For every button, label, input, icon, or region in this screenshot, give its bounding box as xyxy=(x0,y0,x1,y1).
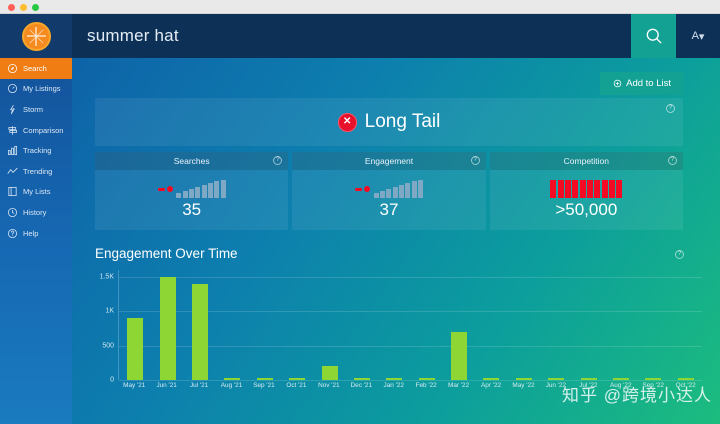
x-axis-tick-label: Sep '22 xyxy=(637,382,669,389)
gridline xyxy=(119,380,702,381)
gauge-marker-dot xyxy=(167,186,173,192)
card-help-icon[interactable]: ? xyxy=(273,156,282,165)
clock-icon xyxy=(7,207,18,218)
font-size-button[interactable]: A ▾ xyxy=(676,14,720,58)
red-x-circle-icon: ✕ xyxy=(338,113,357,132)
add-to-list-label: Add to List xyxy=(626,78,671,89)
sidebar-item-trending[interactable]: Trending xyxy=(0,161,72,182)
search-input[interactable]: summer hat xyxy=(72,14,631,58)
chart-bar[interactable] xyxy=(419,378,435,380)
chart-bar[interactable] xyxy=(224,378,240,380)
card-value: 37 xyxy=(380,200,399,220)
metric-card-competition: Competition ? xyxy=(490,152,683,230)
card-title: Competition xyxy=(564,156,609,166)
x-axis-tick-label: Sep '21 xyxy=(248,382,280,389)
card-body: 35 xyxy=(95,170,288,230)
card-header: Engagement ? xyxy=(292,152,485,170)
chart-bar[interactable] xyxy=(386,378,402,380)
chart-bar[interactable] xyxy=(354,378,370,380)
sidebar-item-history[interactable]: History xyxy=(0,202,72,223)
sidebar-item-label: My Lists xyxy=(23,187,51,196)
sidebar-item-storm[interactable]: Storm xyxy=(0,99,72,120)
chart-bar[interactable] xyxy=(645,378,661,380)
gauge-icon xyxy=(7,83,18,94)
chart-bar[interactable] xyxy=(192,284,208,380)
chart-bar[interactable] xyxy=(127,318,143,380)
top-bar: summer hat A ▾ xyxy=(0,14,720,58)
main-content: Add to List ✕ Long Tail ? Searches ? xyxy=(72,58,720,424)
metric-card-engagement: Engagement ? xyxy=(292,152,485,230)
long-tail-banner: ✕ Long Tail ? xyxy=(95,98,683,146)
chart-bar-slot[interactable] xyxy=(151,270,183,380)
chart-bar[interactable] xyxy=(483,378,499,380)
card-help-icon[interactable]: ? xyxy=(668,156,677,165)
x-axis-tick-label: Jun '21 xyxy=(150,382,182,389)
zoom-window-button[interactable] xyxy=(32,4,39,11)
chart-bars xyxy=(119,270,702,380)
chart-bar[interactable] xyxy=(548,378,564,380)
x-axis-tick-label: Apr '22 xyxy=(475,382,507,389)
y-axis-tick-label: 1.5K xyxy=(100,273,114,280)
chart-bar-slot[interactable] xyxy=(119,270,151,380)
close-window-button[interactable] xyxy=(8,4,15,11)
gauge-marker-dash xyxy=(355,188,362,191)
chart-bar[interactable] xyxy=(678,378,694,380)
x-axis-tick-label: Jan '22 xyxy=(378,382,410,389)
x-axis-tick-label: Feb '22 xyxy=(410,382,442,389)
x-axis-tick-label: May '22 xyxy=(507,382,539,389)
x-axis-tick-label: May '21 xyxy=(118,382,150,389)
card-header: Searches ? xyxy=(95,152,288,170)
card-header: Competition ? xyxy=(490,152,683,170)
notebook-icon xyxy=(7,186,18,197)
y-axis-tick-label: 0 xyxy=(110,377,114,384)
chart-bar-slot[interactable] xyxy=(508,270,540,380)
sidebar-navigation: Search My Listings Storm xyxy=(0,58,72,424)
x-axis-tick-label: Oct '21 xyxy=(280,382,312,389)
metric-cards: Searches ? xyxy=(95,152,683,230)
chart-bar-slot[interactable] xyxy=(475,270,507,380)
chevron-down-icon: ▾ xyxy=(699,30,705,43)
sidebar-item-label: My Listings xyxy=(23,84,61,93)
plus-circle-icon xyxy=(613,79,622,88)
banner-title: Long Tail xyxy=(365,111,441,133)
font-size-label: A xyxy=(692,30,699,42)
x-axis-tick-label: Aug '22 xyxy=(605,382,637,389)
question-icon xyxy=(7,228,18,239)
sidebar-item-search[interactable]: Search xyxy=(0,58,72,79)
chart-bar[interactable] xyxy=(451,332,467,380)
sidebar-item-label: Comparison xyxy=(23,126,63,135)
chart-bar-slot[interactable] xyxy=(313,270,345,380)
add-to-list-row: Add to List xyxy=(600,72,684,95)
metric-card-searches: Searches ? xyxy=(95,152,288,230)
chart-bar-slot[interactable] xyxy=(540,270,572,380)
sidebar-item-label: History xyxy=(23,208,46,217)
x-axis-tick-label: Jul '22 xyxy=(572,382,604,389)
y-axis-tick-label: 500 xyxy=(102,342,114,349)
search-submit-button[interactable] xyxy=(631,14,676,58)
add-to-list-button[interactable]: Add to List xyxy=(600,72,684,95)
chart-bar-slot[interactable] xyxy=(411,270,443,380)
chart-y-axis: 05001K1.5K xyxy=(92,270,116,380)
sidebar-item-my-lists[interactable]: My Lists xyxy=(0,182,72,203)
chart-bar-slot[interactable] xyxy=(443,270,475,380)
chart-bar-slot[interactable] xyxy=(184,270,216,380)
chart-bar-slot[interactable] xyxy=(216,270,248,380)
card-body: >50,000 xyxy=(490,170,683,230)
sidebar-item-label: Help xyxy=(23,229,38,238)
logo-spokes xyxy=(27,27,46,46)
x-axis-tick-label: Nov '21 xyxy=(313,382,345,389)
y-axis-tick-label: 1K xyxy=(105,308,114,315)
sidebar-item-label: Storm xyxy=(23,105,43,114)
x-axis-tick-label: Jul '21 xyxy=(183,382,215,389)
trend-line-icon xyxy=(7,166,18,177)
card-title: Engagement xyxy=(365,156,413,166)
card-value: 35 xyxy=(182,200,201,220)
bar-chart-icon xyxy=(7,145,18,156)
chart-x-axis: May '21Jun '21Jul '21Aug '21Sep '21Oct '… xyxy=(118,382,702,389)
chart-plot-area: 05001K1.5K May '21Jun '21Jul '21Aug '21S… xyxy=(92,270,702,398)
chart-bar[interactable] xyxy=(516,378,532,380)
chart-bar[interactable] xyxy=(289,378,305,380)
magnifier-icon xyxy=(644,26,664,46)
sidebar-item-label: Trending xyxy=(23,167,52,176)
chart-grid xyxy=(118,270,702,380)
chart-bar[interactable] xyxy=(257,378,273,380)
chart-help-icon[interactable]: ? xyxy=(675,250,684,259)
x-axis-tick-label: Aug '21 xyxy=(215,382,247,389)
chart-bar-slot[interactable] xyxy=(637,270,669,380)
engagement-chart-panel: Engagement Over Time ? 05001K1.5K May '2… xyxy=(72,238,720,424)
card-body: 37 xyxy=(292,170,485,230)
compass-icon xyxy=(7,63,18,74)
card-value: >50,000 xyxy=(555,200,617,220)
x-axis-tick-label: Oct '22 xyxy=(669,382,701,389)
app-logo[interactable] xyxy=(0,14,72,58)
x-axis-tick-label: Dec '21 xyxy=(345,382,377,389)
bolt-icon xyxy=(7,104,18,115)
sidebar-item-comparison[interactable]: Comparison xyxy=(0,120,72,141)
chart-title: Engagement Over Time xyxy=(95,246,238,261)
card-help-icon[interactable]: ? xyxy=(471,156,480,165)
search-input-value: summer hat xyxy=(87,26,179,46)
chart-bar-slot[interactable] xyxy=(346,270,378,380)
gauge-indicator xyxy=(550,180,622,198)
sidebar-item-label: Tracking xyxy=(23,146,51,155)
gauge-marker-dash xyxy=(158,188,165,191)
x-axis-tick-label: Mar '22 xyxy=(442,382,474,389)
chart-bar[interactable] xyxy=(613,378,629,380)
chart-bar-slot[interactable] xyxy=(670,270,702,380)
gauge-indicator xyxy=(158,180,226,198)
chart-bar[interactable] xyxy=(581,378,597,380)
signpost-icon xyxy=(7,125,18,136)
card-title: Searches xyxy=(174,156,210,166)
orange-slice-logo-icon xyxy=(22,22,51,51)
chart-bar-slot[interactable] xyxy=(605,270,637,380)
sidebar-item-tracking[interactable]: Tracking xyxy=(0,140,72,161)
app-window: summer hat A ▾ Search xyxy=(0,0,720,424)
chart-bar-slot[interactable] xyxy=(281,270,313,380)
window-titlebar xyxy=(0,0,720,14)
chart-bar[interactable] xyxy=(322,366,338,380)
sidebar-item-label: Search xyxy=(23,64,47,73)
chart-bar[interactable] xyxy=(160,277,176,380)
gauge-indicator xyxy=(355,180,423,198)
traffic-light-buttons xyxy=(8,4,39,11)
x-axis-tick-label: Jun '22 xyxy=(540,382,572,389)
chart-bar-slot[interactable] xyxy=(378,270,410,380)
chart-bar-slot[interactable] xyxy=(572,270,604,380)
sidebar-item-help[interactable]: Help xyxy=(0,223,72,244)
minimize-window-button[interactable] xyxy=(20,4,27,11)
sidebar-item-my-listings[interactable]: My Listings xyxy=(0,79,72,100)
chart-bar-slot[interactable] xyxy=(249,270,281,380)
banner-help-icon[interactable]: ? xyxy=(666,104,675,113)
gauge-marker-dot xyxy=(364,186,370,192)
